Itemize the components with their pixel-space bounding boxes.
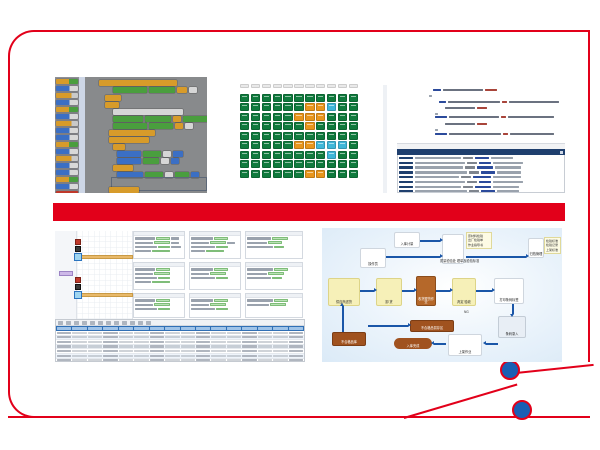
status-cell[interactable]: [327, 141, 336, 149]
status-cell[interactable]: [283, 151, 292, 159]
status-cell[interactable]: [251, 151, 260, 159]
status-cell[interactable]: [283, 84, 292, 88]
status-cell[interactable]: [349, 151, 358, 159]
status-cell[interactable]: [305, 84, 314, 88]
table-cell: [242, 336, 256, 338]
table-cell: [150, 345, 164, 347]
table-cell: [134, 345, 148, 347]
log-row[interactable]: [399, 175, 563, 179]
flow-node-putaway[interactable]: 上架作业: [448, 334, 482, 356]
status-cell[interactable]: [283, 113, 292, 121]
side-note-3: 作业指导书: [468, 243, 490, 248]
screenshot-code-ide: [383, 85, 565, 193]
table-cell: [181, 359, 195, 361]
flow-node-receiving-label: 收货理货作业: [417, 298, 435, 304]
table-cell: [57, 359, 71, 361]
table-cell: [72, 332, 86, 334]
table-cell: [103, 345, 117, 347]
status-cell[interactable]: [294, 141, 303, 149]
status-matrix[interactable]: [240, 84, 358, 178]
blocks-canvas[interactable]: [85, 77, 207, 193]
status-cell[interactable]: [240, 160, 249, 168]
blocks-palette[interactable]: [55, 77, 79, 193]
status-cell[interactable]: [294, 122, 303, 130]
table-column-header[interactable]: [88, 327, 102, 329]
log-row[interactable]: [399, 156, 563, 160]
arrow-inspection-to-archive: [466, 256, 526, 258]
table-cell: [150, 355, 164, 357]
table-cell: [196, 345, 210, 347]
table-cell: [273, 341, 287, 343]
arrow-putaway-to-done: [434, 343, 446, 345]
table-cell: [242, 341, 256, 343]
table-cell: [119, 345, 133, 347]
frame-diagonal-lower: [404, 384, 518, 419]
table-cell: [72, 341, 86, 343]
status-cell[interactable]: [273, 141, 282, 149]
table-cell: [88, 341, 102, 343]
table-cell: [88, 336, 102, 338]
status-cell[interactable]: [349, 170, 358, 178]
screenshot-status-grid: [240, 84, 358, 178]
table-cell: [119, 332, 133, 334]
flow-node-quality-check-label: 判定 验收: [457, 301, 471, 304]
table-cell: [134, 336, 148, 338]
status-cell[interactable]: [240, 122, 249, 130]
status-cell[interactable]: [305, 160, 314, 168]
table-cell: [88, 350, 102, 352]
flow-node-unload[interactable]: 卸 货: [376, 278, 402, 306]
table-cell: [289, 345, 303, 347]
arrow-operator-to-inspection: [386, 256, 440, 258]
frame-diagonal-upper: [516, 364, 594, 374]
status-cell[interactable]: [262, 160, 271, 168]
table-cell: [165, 336, 179, 338]
table-cell: [88, 345, 102, 347]
flow-node-scan-in-label: 条码录入: [506, 333, 519, 336]
table-column-header[interactable]: [150, 327, 164, 329]
flow-node-reject-store-label: 不合格品库: [341, 341, 357, 344]
table-cell: [134, 355, 148, 357]
status-cell[interactable]: [338, 113, 347, 121]
scheduler-timeline-grid[interactable]: [77, 231, 133, 319]
status-cell[interactable]: [283, 141, 292, 149]
status-cell[interactable]: [349, 132, 358, 140]
table-cell: [211, 350, 225, 352]
status-cell[interactable]: [283, 122, 292, 130]
status-cell[interactable]: [327, 84, 336, 88]
status-cell[interactable]: [273, 160, 282, 168]
status-cell[interactable]: [327, 113, 336, 121]
table-column-header[interactable]: [273, 327, 287, 329]
status-cell[interactable]: [316, 170, 325, 178]
status-cell[interactable]: [283, 94, 292, 102]
flow-node-receiving[interactable]: 收货理货作业: [416, 276, 436, 306]
status-cell[interactable]: [294, 103, 303, 111]
table-cell: [103, 359, 117, 361]
flow-node-inbound-done[interactable]: 入库完成: [394, 338, 432, 349]
status-cell[interactable]: [294, 113, 303, 121]
status-cell[interactable]: [262, 103, 271, 111]
status-cell[interactable]: [316, 122, 325, 130]
table-cell: [289, 359, 303, 361]
status-cell[interactable]: [283, 170, 292, 178]
status-cell[interactable]: [338, 84, 347, 88]
flow-node-barcode-print-label: 打印条码标签: [499, 299, 518, 302]
screenshot-logistics-flow: 操作员 入库计量 原材料检验 出厂检验单 作业指导书 质量检验处 理单及检验标准…: [322, 228, 562, 362]
status-cell[interactable]: [283, 132, 292, 140]
status-cell[interactable]: [240, 84, 249, 88]
table-cell: [211, 341, 225, 343]
flow-branch-label-ng: NG: [464, 310, 469, 314]
slide-canvas: 操作员 入库计量 原材料检验 出厂检验单 作业指导书 质量检验处 理单及检验标准…: [0, 0, 600, 450]
status-cell[interactable]: [262, 122, 271, 130]
arrow-barcode-to-scan: [512, 304, 514, 314]
table-cell: [165, 345, 179, 347]
code-editor[interactable]: [383, 85, 565, 143]
table-cell: [242, 350, 256, 352]
table-cell: [103, 341, 117, 343]
flow-node-inbound-done-label: 入库完成: [407, 345, 420, 348]
table-cell: [103, 336, 117, 338]
status-cell[interactable]: [327, 103, 336, 111]
table-cell: [103, 350, 117, 352]
status-cell[interactable]: [338, 103, 347, 111]
status-cell[interactable]: [273, 151, 282, 159]
table-cell: [211, 355, 225, 357]
table-cell: [196, 350, 210, 352]
status-cell[interactable]: [349, 160, 358, 168]
table-cell: [181, 345, 195, 347]
decorative-dot-lower: [512, 400, 532, 420]
table-cell: [103, 332, 117, 334]
flow-node-putaway-label: 上架作业: [459, 351, 472, 354]
status-cell[interactable]: [273, 170, 282, 178]
status-cell[interactable]: [316, 103, 325, 111]
table-cell: [227, 350, 241, 352]
log-row[interactable]: [399, 166, 563, 170]
table-column-header[interactable]: [134, 327, 148, 329]
scheduler-upper: [55, 231, 305, 319]
flow-node-unload-label: 卸 货: [385, 301, 392, 304]
table-column-header[interactable]: [103, 327, 117, 329]
arrow-receiving-to-qc: [436, 290, 450, 292]
status-cell[interactable]: [338, 151, 347, 159]
status-cell[interactable]: [327, 170, 336, 178]
status-cell[interactable]: [327, 160, 336, 168]
table-body[interactable]: [56, 331, 304, 362]
flow-node-reject-area-label: 不合格品暂存区: [421, 327, 443, 330]
status-cell[interactable]: [349, 103, 358, 111]
status-cell[interactable]: [240, 113, 249, 121]
table-cell: [227, 341, 241, 343]
status-cell[interactable]: [338, 170, 347, 178]
status-cell[interactable]: [251, 122, 260, 130]
table-cell: [289, 355, 303, 357]
screenshot-blocks-editor: [55, 77, 207, 193]
status-cell[interactable]: [294, 132, 303, 140]
table-cell: [273, 336, 287, 338]
table-cell: [227, 345, 241, 347]
table-cell: [57, 355, 71, 357]
status-cell[interactable]: [240, 94, 249, 102]
table-cell: [103, 355, 117, 357]
log-row[interactable]: [399, 180, 563, 184]
table-cell: [227, 336, 241, 338]
status-cell[interactable]: [251, 113, 260, 121]
status-cell[interactable]: [305, 103, 314, 111]
table-cell: [211, 332, 225, 334]
status-cell[interactable]: [316, 113, 325, 121]
status-cell[interactable]: [294, 94, 303, 102]
table-cell: [165, 332, 179, 334]
scheduler-property-panels[interactable]: [133, 231, 305, 319]
table-cell: [134, 350, 148, 352]
arrow-truck-to-unload: [360, 290, 374, 292]
status-cell[interactable]: [273, 103, 282, 111]
log-row[interactable]: [399, 170, 563, 174]
status-cell[interactable]: [316, 160, 325, 168]
table-cell: [196, 359, 210, 361]
table-cell: [72, 350, 86, 352]
table-column-header[interactable]: [258, 327, 272, 329]
table-column-header[interactable]: [181, 327, 195, 329]
flow-right-labels: 检验标准 检验记录 上架标准: [544, 237, 561, 254]
flow-node-archive[interactable]: 归档管理: [528, 238, 544, 258]
table-cell: [211, 336, 225, 338]
status-cell[interactable]: [273, 132, 282, 140]
status-cell[interactable]: [294, 170, 303, 178]
table-column-header[interactable]: [211, 327, 225, 329]
table-cell: [211, 345, 225, 347]
status-cell[interactable]: [305, 141, 314, 149]
table-cell: [273, 350, 287, 352]
status-cell[interactable]: [251, 84, 260, 88]
table-cell: [289, 350, 303, 352]
status-cell[interactable]: [273, 113, 282, 121]
status-cell[interactable]: [273, 122, 282, 130]
table-cell: [57, 345, 71, 347]
status-cell[interactable]: [316, 132, 325, 140]
table-cell: [119, 336, 133, 338]
log-row[interactable]: [399, 185, 563, 189]
status-cell[interactable]: [240, 132, 249, 140]
status-cell[interactable]: [349, 141, 358, 149]
table-cell: [258, 350, 272, 352]
table-column-header[interactable]: [289, 327, 303, 329]
status-cell[interactable]: [327, 94, 336, 102]
red-section-divider: [53, 203, 565, 221]
table-cell: [196, 332, 210, 334]
status-cell[interactable]: [251, 141, 260, 149]
status-cell[interactable]: [349, 94, 358, 102]
status-cell[interactable]: [262, 113, 271, 121]
status-cell[interactable]: [327, 132, 336, 140]
table-column-header[interactable]: [57, 327, 71, 329]
arrow-scan-to-putaway: [486, 343, 498, 345]
screenshot-scheduler: [55, 231, 305, 362]
table-cell: [165, 341, 179, 343]
table-cell: [72, 355, 86, 357]
table-cell: [150, 350, 164, 352]
status-cell[interactable]: [262, 151, 271, 159]
status-cell[interactable]: [251, 103, 260, 111]
flow-node-weigh-station[interactable]: 入库计量: [394, 232, 420, 248]
slide-frame-bottom-edge: [8, 416, 406, 418]
status-cell[interactable]: [305, 113, 314, 121]
table-cell: [242, 359, 256, 361]
status-cell[interactable]: [349, 113, 358, 121]
status-cell[interactable]: [316, 94, 325, 102]
table-cell: [134, 359, 148, 361]
status-cell[interactable]: [294, 84, 303, 88]
status-cell[interactable]: [251, 94, 260, 102]
flow-node-scan-in[interactable]: 条码录入: [498, 316, 526, 338]
status-cell[interactable]: [273, 84, 282, 88]
status-cell[interactable]: [251, 132, 260, 140]
table-cell: [57, 336, 71, 338]
table-cell: [88, 355, 102, 357]
flow-node-inspection-label: 质量检验处 理单及检验标准: [440, 258, 479, 263]
status-cell[interactable]: [251, 160, 260, 168]
flow-side-notes: 原材料检验 出厂检验单 作业指导书: [466, 232, 492, 249]
right-label-3: 上架标准: [546, 248, 559, 253]
flow-node-operator[interactable]: 操作员: [360, 248, 386, 268]
table-cell: [196, 341, 210, 343]
table-cell: [289, 341, 303, 343]
status-cell[interactable]: [283, 160, 292, 168]
status-cell[interactable]: [338, 141, 347, 149]
table-cell: [181, 336, 195, 338]
table-column-header[interactable]: [242, 327, 256, 329]
table-cell: [181, 350, 195, 352]
table-column-header[interactable]: [165, 327, 179, 329]
flow-node-operator-label: 操作员: [368, 263, 378, 266]
table-cell: [258, 355, 272, 357]
flow-node-supplier-truck[interactable]: 供应商送货: [328, 278, 360, 306]
table-cell: [258, 341, 272, 343]
table-cell: [227, 355, 241, 357]
status-cell[interactable]: [338, 132, 347, 140]
table-cell: [72, 336, 86, 338]
status-cell[interactable]: [294, 151, 303, 159]
table-cell: [227, 332, 241, 334]
status-cell[interactable]: [262, 132, 271, 140]
status-cell[interactable]: [305, 94, 314, 102]
table-cell: [150, 332, 164, 334]
table-cell: [196, 336, 210, 338]
table-cell: [289, 336, 303, 338]
status-cell[interactable]: [251, 170, 260, 178]
status-cell[interactable]: [316, 151, 325, 159]
status-cell[interactable]: [338, 122, 347, 130]
arrow-qc-to-barcode: [476, 290, 492, 292]
flow-node-barcode-print[interactable]: 打印条码标签: [494, 278, 524, 304]
status-cell[interactable]: [305, 170, 314, 178]
table-column-header[interactable]: [196, 327, 210, 329]
scheduler-data-table[interactable]: [55, 319, 305, 362]
table-cell: [150, 341, 164, 343]
status-cell[interactable]: [349, 84, 358, 88]
table-cell: [119, 350, 133, 352]
table-column-header[interactable]: [119, 327, 133, 329]
table-cell: [150, 359, 164, 361]
table-cell: [134, 332, 148, 334]
status-cell[interactable]: [240, 170, 249, 178]
table-cell: [273, 359, 287, 361]
table-cell: [134, 341, 148, 343]
table-cell: [181, 332, 195, 334]
table-cell: [196, 355, 210, 357]
table-row[interactable]: [56, 359, 304, 362]
table-cell: [181, 341, 195, 343]
status-cell[interactable]: [294, 160, 303, 168]
table-column-header[interactable]: [72, 327, 86, 329]
log-output-list[interactable]: [397, 155, 565, 193]
table-cell: [88, 359, 102, 361]
status-cell[interactable]: [305, 151, 314, 159]
status-cell[interactable]: [327, 151, 336, 159]
status-cell[interactable]: [283, 103, 292, 111]
status-cell[interactable]: [316, 141, 325, 149]
table-cell: [258, 345, 272, 347]
log-row[interactable]: [399, 189, 563, 193]
table-cell: [150, 336, 164, 338]
table-cell: [211, 359, 225, 361]
status-cell[interactable]: [262, 94, 271, 102]
table-cell: [165, 350, 179, 352]
status-cell[interactable]: [262, 170, 271, 178]
status-cell[interactable]: [262, 141, 271, 149]
table-cell: [72, 359, 86, 361]
table-cell: [57, 332, 71, 334]
table-cell: [72, 345, 86, 347]
table-cell: [242, 355, 256, 357]
status-cell[interactable]: [338, 94, 347, 102]
table-cell: [273, 355, 287, 357]
status-cell[interactable]: [240, 151, 249, 159]
log-row[interactable]: [399, 161, 563, 165]
table-column-header[interactable]: [227, 327, 241, 329]
status-cell[interactable]: [305, 122, 314, 130]
status-cell[interactable]: [349, 122, 358, 130]
table-cell: [119, 355, 133, 357]
flow-node-reject-store[interactable]: 不合格品库: [332, 332, 366, 346]
table-cell: [88, 332, 102, 334]
table-cell: [181, 355, 195, 357]
status-cell[interactable]: [338, 160, 347, 168]
table-cell: [57, 350, 71, 352]
status-cell[interactable]: [273, 94, 282, 102]
table-cell: [165, 359, 179, 361]
status-cell[interactable]: [316, 84, 325, 88]
table-cell: [119, 359, 133, 361]
arrow-reject-store-to-truck: [342, 306, 344, 332]
flow-node-quality-check[interactable]: 判定 验收: [452, 278, 476, 306]
status-cell[interactable]: [327, 122, 336, 130]
table-cell: [242, 332, 256, 334]
status-cell[interactable]: [262, 84, 271, 88]
decorative-dot-upper: [500, 360, 520, 380]
right-label-2: 检验记录: [546, 243, 559, 248]
flow-node-reject-area[interactable]: 不合格品暂存区: [410, 320, 454, 332]
status-cell[interactable]: [240, 141, 249, 149]
table-cell: [258, 336, 272, 338]
arrow-reject-area-to-store: [368, 325, 408, 327]
flow-node-archive-label: 归档管理: [530, 253, 543, 256]
status-cell[interactable]: [305, 132, 314, 140]
status-cell[interactable]: [240, 103, 249, 111]
